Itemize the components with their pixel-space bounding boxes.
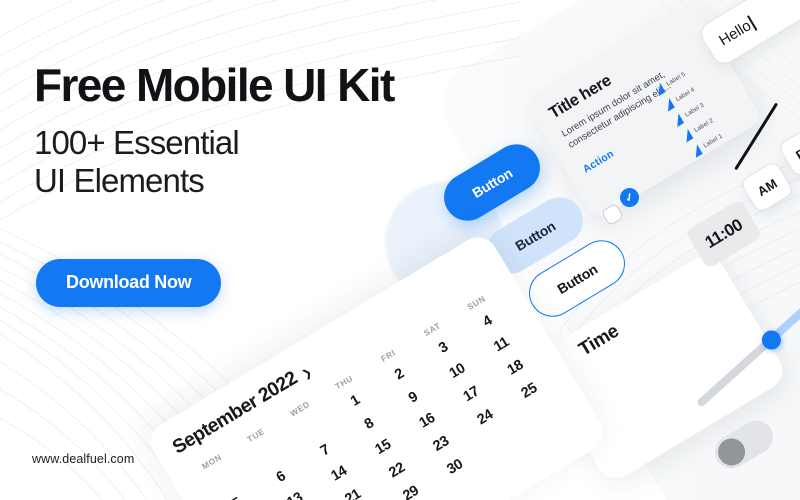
promo-banner: Free Mobile UI Kit 100+ Essential UI Ele…: [0, 0, 800, 500]
website-url: www.dealfuel.com: [32, 452, 134, 466]
list-item-label: Label 3: [684, 102, 706, 119]
hero-subtitle-line-2: UI Elements: [34, 162, 204, 199]
page-title: Free Mobile UI Kit: [34, 62, 504, 108]
list-item-label: Label 2: [693, 117, 715, 134]
hero-subtitle-line-1: 100+ Essential: [34, 124, 239, 161]
hero-copy: Free Mobile UI Kit 100+ Essential UI Ele…: [34, 62, 504, 201]
download-now-button[interactable]: Download Now: [36, 259, 221, 307]
hero-subtitle: 100+ Essential UI Elements: [34, 124, 504, 201]
list-item-label: Label 4: [674, 86, 696, 103]
chevron-down-icon[interactable]: ❯: [300, 365, 315, 381]
text-input-value: Hello: [716, 17, 754, 49]
